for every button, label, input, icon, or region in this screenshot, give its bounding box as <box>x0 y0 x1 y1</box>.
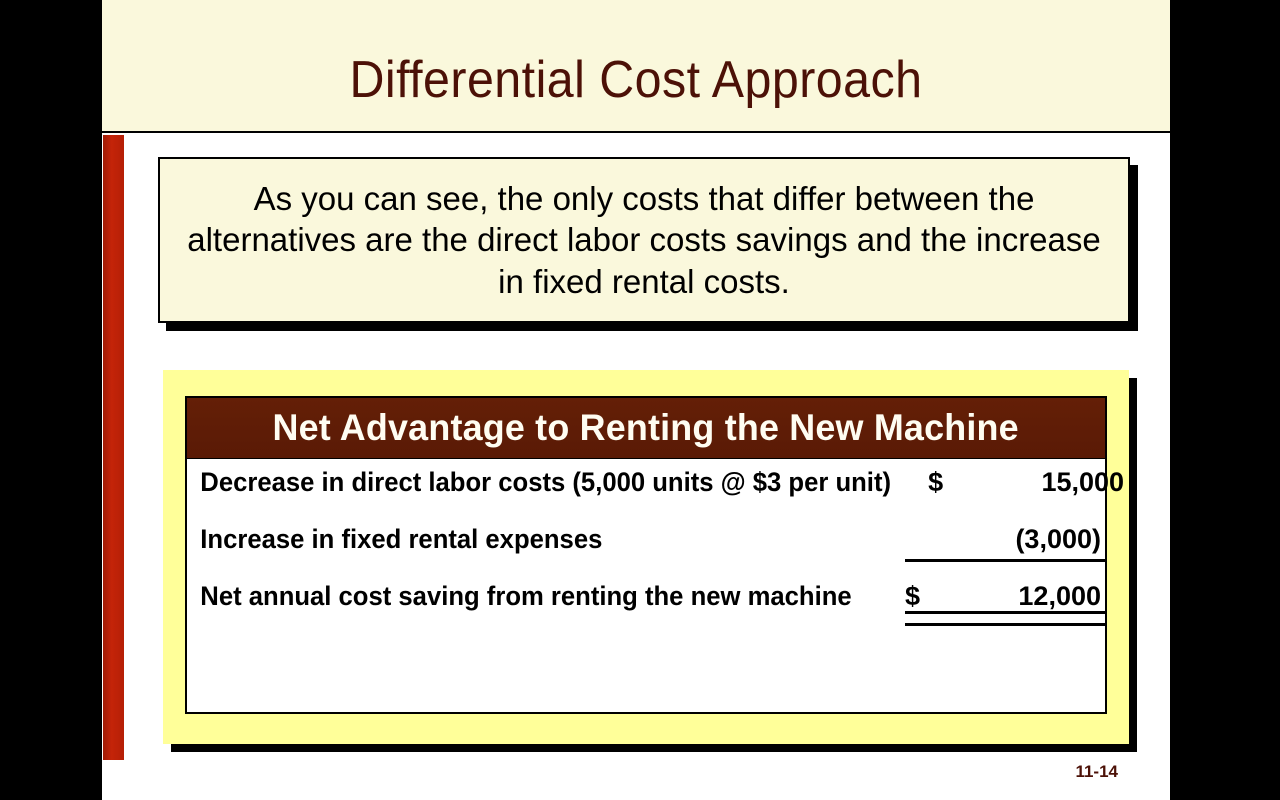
table-row-amount-cell: (3,000) <box>905 524 1105 562</box>
page-title: Differential Cost Approach <box>139 50 1132 110</box>
table-body: Decrease in direct labor costs (5,000 un… <box>187 459 1105 638</box>
table-row-label: Net annual cost saving from renting the … <box>187 581 869 612</box>
callout-box: As you can see, the only costs that diff… <box>158 157 1130 323</box>
table-panel: Net Advantage to Renting the New Machine… <box>163 370 1129 744</box>
table-row-label: Decrease in direct labor costs (5,000 un… <box>187 467 891 498</box>
table-row-currency: $ <box>905 581 951 612</box>
slide-backdrop: Differential Cost Approach As you can se… <box>0 0 1280 800</box>
table-row: Net annual cost saving from renting the … <box>187 581 1105 638</box>
table-row-label: Increase in fixed rental expenses <box>187 524 869 555</box>
title-band: Differential Cost Approach <box>102 0 1170 133</box>
table-row: Decrease in direct labor costs (5,000 un… <box>187 467 1105 524</box>
table-header: Net Advantage to Renting the New Machine <box>187 398 1105 459</box>
table-row: Increase in fixed rental expenses(3,000) <box>187 524 1105 581</box>
table-box: Net Advantage to Renting the New Machine… <box>185 396 1107 714</box>
table-row-value: 15,000 <box>974 467 1128 498</box>
table-row-value: 12,000 <box>951 581 1105 612</box>
table-header-title: Net Advantage to Renting the New Machine <box>273 407 1019 449</box>
callout-text: As you can see, the only costs that diff… <box>160 178 1128 303</box>
table-row-amount-cell: $15,000 <box>928 467 1128 498</box>
left-accent-bar <box>103 135 124 760</box>
table-row-currency: $ <box>928 467 974 498</box>
table-row-value: (3,000) <box>951 524 1105 555</box>
page-number: 11-14 <box>102 762 1170 782</box>
table-row-amount-cell: $12,000 <box>905 581 1105 612</box>
slide-canvas: Differential Cost Approach As you can se… <box>102 0 1170 800</box>
